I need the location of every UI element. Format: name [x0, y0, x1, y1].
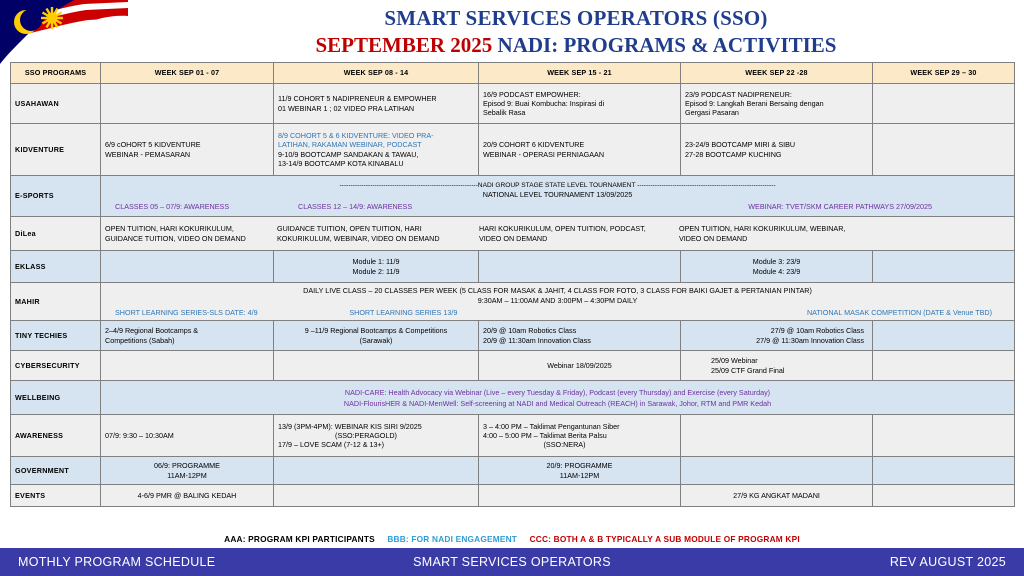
cell-tinytechies-week3: 20/9 @ 10am Robotics Class 20/9 @ 11:30a…: [479, 321, 681, 351]
title-line-2: SEPTEMBER 2025 NADI: PROGRAMS & ACTIVITI…: [128, 31, 1024, 59]
cell-line: Module 2: 11/9: [278, 267, 474, 276]
cell-line: 20/9 @ 11:30am Innovation Class: [483, 336, 676, 345]
cell-line: 27/9 @ 11:30am Innovation Class: [685, 336, 864, 345]
cell-line: 23-24/9 BOOTCAMP MIRI & SIBU: [685, 140, 868, 149]
cell-cybersecurity-week3: Webinar 18/09/2025: [479, 351, 681, 381]
footer-left-label: MOTHLY PROGRAM SCHEDULE: [18, 555, 215, 569]
dilea-col-2: GUIDANCE TUITION, OPEN TUITION, HARI KOK…: [277, 224, 479, 243]
row-label-usahawan: USAHAWAN: [11, 84, 101, 124]
row-label-awareness: AWARENESS: [11, 415, 101, 457]
cell-kidventure-week2: 8/9 COHORT 5 & 6 KIDVENTURE: VIDEO PRA- …: [274, 124, 479, 176]
col-header-programs: SSO PROGRAMS: [11, 63, 101, 84]
cell-events-week2: [274, 485, 479, 507]
cell-eklass-week1: [101, 251, 274, 283]
col-header-week2: WEEK SEP 08 - 14: [274, 63, 479, 84]
cell-line: 20/9 COHORT 6 KIDVENTURE: [483, 140, 676, 149]
cell-line: 20/9 @ 10am Robotics Class: [483, 326, 676, 335]
cell-usahawan-week3: 16/9 PODCAST EMPOWHER: Episod 9: Buai Ko…: [479, 84, 681, 124]
cell-line: OPEN TUITION, HARI KOKURIKULUM,: [105, 224, 271, 233]
wellbeing-line-2: NADI-FlourisHER & NADI-MenWell: Self-scr…: [105, 398, 1010, 409]
cell-line: Module 1: 11/9: [278, 257, 474, 266]
cell-line: Episod 9: Buai Kombucha: Inspirasi di: [483, 99, 676, 108]
row-label-dilea: DiLea: [11, 217, 101, 251]
cell-awareness-week5: [873, 415, 1015, 457]
cell-line: 13/9 (3PM-4PM): WEBINAR KIS SIRI 9/2025: [278, 422, 474, 431]
table-row-awareness: AWARENESS 07/9: 9:30 – 10:30AM 13/9 (3PM…: [11, 415, 1015, 457]
cell-line: 13-14/9 BOOTCAMP KOTA KINABALU: [278, 159, 474, 168]
cell-wellbeing-span: NADI-CARE: Health Advocacy via Webinar (…: [101, 381, 1015, 415]
cell-line: GUIDANCE TUITION, VIDEO ON DEMAND: [105, 234, 271, 243]
cell-line: 9 –11/9 Regional Bootcamps & Competition…: [278, 326, 474, 335]
cell-awareness-week1: 07/9: 9:30 – 10:30AM: [101, 415, 274, 457]
cell-esports-span: ----------------------------------------…: [101, 176, 1015, 217]
cell-awareness-week2: 13/9 (3PM-4PM): WEBINAR KIS SIRI 9/2025 …: [274, 415, 479, 457]
cell-line: LATIHAN, RAKAMAN WEBINAR, PODCAST: [278, 140, 474, 149]
cell-awareness-week3: 3 – 4:00 PM – Taklimat Pengantunan Siber…: [479, 415, 681, 457]
mahir-line-1: DAILY LIVE CLASS – 20 CLASSES PER WEEK (…: [105, 286, 1010, 296]
cell-line: Module 3: 23/9: [685, 257, 868, 266]
cell-events-week3: [479, 485, 681, 507]
cell-line: Module 4: 23/9: [685, 267, 868, 276]
cell-usahawan-week4: 23/9 PODCAST NADIPRENEUR: Episod 9: Lang…: [681, 84, 873, 124]
cell-line: 25/09 CTF Grand Final: [711, 366, 868, 375]
mahir-tag-3: NATIONAL MASAK COMPETITION (DATE & Venue…: [603, 308, 1010, 317]
cell-cybersecurity-week5: [873, 351, 1015, 381]
table-row-government: GOVERNMENT 06/9: PROGRAMME 11AM-12PM 20/…: [11, 457, 1015, 485]
cell-line: 11/9 COHORT 5 NADIPRENEUR & EMPOWHER: [278, 94, 474, 103]
row-label-government: GOVERNMENT: [11, 457, 101, 485]
esports-tag-1: CLASSES 05 – 07/9: AWARENESS: [105, 202, 286, 211]
cell-eklass-week4: Module 3: 23/9 Module 4: 23/9: [681, 251, 873, 283]
cell-line: 2–4/9 Regional Bootcamps &: [105, 326, 269, 335]
table-row-esports: E-SPORTS -------------------------------…: [11, 176, 1015, 217]
cell-cybersecurity-week4: 25/09 Webinar 25/09 CTF Grand Final: [681, 351, 873, 381]
cell-government-week1: 06/9: PROGRAMME 11AM-12PM: [101, 457, 274, 485]
table-header-row: SSO PROGRAMS WEEK SEP 01 - 07 WEEK SEP 0…: [11, 63, 1015, 84]
row-label-wellbeing: WELLBEING: [11, 381, 101, 415]
row-label-esports: E-SPORTS: [11, 176, 101, 217]
cell-line: 25/09 Webinar: [711, 356, 868, 365]
cell-awareness-week4: [681, 415, 873, 457]
cell-line: 8/9 COHORT 5 & 6 KIDVENTURE: VIDEO PRA-: [278, 131, 474, 140]
table-row-tiny-techies: TINY TECHIES 2–4/9 Regional Bootcamps & …: [11, 321, 1015, 351]
cell-line: 6/9 cOHORT 5 KIDVENTURE: [105, 140, 269, 149]
cell-cybersecurity-week1: [101, 351, 274, 381]
cell-kidventure-week4: 23-24/9 BOOTCAMP MIRI & SIBU 27-28 BOOTC…: [681, 124, 873, 176]
table-row-usahawan: USAHAWAN 11/9 COHORT 5 NADIPRENEUR & EMP…: [11, 84, 1015, 124]
cell-usahawan-week5: [873, 84, 1015, 124]
cell-tinytechies-week5: [873, 321, 1015, 351]
cell-line: 23/9 PODCAST NADIPRENEUR:: [685, 90, 868, 99]
cell-line: Episod 9: Langkah Berani Bersaing dengan: [685, 99, 868, 108]
cell-kidventure-week1: 6/9 cOHORT 5 KIDVENTURE WEBINAR - PEMASA…: [101, 124, 274, 176]
col-header-week1: WEEK SEP 01 - 07: [101, 63, 274, 84]
col-header-week4: WEEK SEP 22 -28: [681, 63, 873, 84]
cell-tinytechies-week2: 9 –11/9 Regional Bootcamps & Competition…: [274, 321, 479, 351]
footer-right-label: REV AUGUST 2025: [890, 555, 1006, 569]
table-row-eklass: EKLASS Module 1: 11/9 Module 2: 11/9 Mod…: [11, 251, 1015, 283]
cell-tinytechies-week4: 27/9 @ 10am Robotics Class 27/9 @ 11:30a…: [681, 321, 873, 351]
cell-line: VIDEO ON DEMAND: [679, 234, 893, 243]
legend: AAA: PROGRAM KPI PARTICIPANTS BBB: FOR N…: [0, 534, 1024, 544]
cell-mahir-span: DAILY LIVE CLASS – 20 CLASSES PER WEEK (…: [101, 283, 1015, 321]
cell-line: 11AM-12PM: [483, 471, 676, 480]
legend-aaa: AAA: PROGRAM KPI PARTICIPANTS: [224, 534, 375, 544]
row-label-eklass: EKLASS: [11, 251, 101, 283]
cell-government-week3: 20/9: PROGRAMME 11AM-12PM: [479, 457, 681, 485]
cell-line: WEBINAR - OPERASI PERNIAGAAN: [483, 150, 676, 159]
esports-tag-2: CLASSES 12 – 14/9: AWARENESS: [286, 202, 530, 211]
cell-events-week5: [873, 485, 1015, 507]
row-label-cybersecurity: CYBERSECURITY: [11, 351, 101, 381]
cell-usahawan-week1: [101, 84, 274, 124]
schedule-page: SMART SERVICES OPERATORS (SSO) SEPTEMBER…: [0, 0, 1024, 576]
cell-line: (SSO:NERA): [483, 440, 676, 449]
footer-bar: MOTHLY PROGRAM SCHEDULE SMART SERVICES O…: [0, 548, 1024, 576]
row-label-events: EVENTS: [11, 485, 101, 507]
row-label-mahir: MAHIR: [11, 283, 101, 321]
col-header-week5: WEEK SEP 29 – 30: [873, 63, 1015, 84]
col-header-week3: WEEK SEP 15 - 21: [479, 63, 681, 84]
mahir-line-2: 9:30AM – 11:00AM AND 3:00PM – 4:30PM DAI…: [105, 296, 1010, 306]
cell-line: Gergasi Pasaran: [685, 108, 868, 117]
legend-bbb: BBB: FOR NADI ENGAGEMENT: [387, 534, 517, 544]
cell-government-week4: [681, 457, 873, 485]
cell-dilea-span: OPEN TUITION, HARI KOKURIKULUM, GUIDANCE…: [101, 217, 1015, 251]
cell-line: 27/9 @ 10am Robotics Class: [685, 326, 864, 335]
cell-line: 11AM-12PM: [105, 471, 269, 480]
cell-line: 06/9: PROGRAMME: [105, 461, 269, 470]
table-row-kidventure: KIDVENTURE 6/9 cOHORT 5 KIDVENTURE WEBIN…: [11, 124, 1015, 176]
page-title: SMART SERVICES OPERATORS (SSO) SEPTEMBER…: [128, 2, 1024, 62]
cell-line: 3 – 4:00 PM – Taklimat Pengantunan Siber: [483, 422, 676, 431]
cell-line: WEBINAR - PEMASARAN: [105, 150, 269, 159]
cell-line: (SSO:PERAGOLD): [278, 431, 474, 440]
title-line-1: SMART SERVICES OPERATORS (SSO): [128, 2, 1024, 31]
cell-line: (Sarawak): [278, 336, 474, 345]
table-row-mahir: MAHIR DAILY LIVE CLASS – 20 CLASSES PER …: [11, 283, 1015, 321]
cell-line: GUIDANCE TUITION, OPEN TUITION, HARI: [277, 224, 473, 233]
cell-line: 4:00 – 5:00 PM – Taklimat Berita Palsu: [483, 431, 676, 440]
cell-line: Competitions (Sabah): [105, 336, 269, 345]
cell-line: 17/9 – LOVE SCAM (7-12 & 13+): [278, 440, 474, 449]
schedule-table: SSO PROGRAMS WEEK SEP 01 - 07 WEEK SEP 0…: [10, 62, 1015, 507]
row-label-kidventure: KIDVENTURE: [11, 124, 101, 176]
cell-kidventure-week3: 20/9 COHORT 6 KIDVENTURE WEBINAR - OPERA…: [479, 124, 681, 176]
row-label-tiny-techies: TINY TECHIES: [11, 321, 101, 351]
cell-line: 9-10/9 BOOTCAMP SANDAKAN & TAWAU,: [278, 150, 474, 159]
dilea-col-4: OPEN TUITION, HARI KOKURIKULUM, WEBINAR,…: [679, 224, 899, 243]
cell-eklass-week5: [873, 251, 1015, 283]
cell-line: 20/9: PROGRAMME: [483, 461, 676, 470]
cell-line: KOKURIKULUM, WEBINAR, VIDEO ON DEMAND: [277, 234, 473, 243]
esports-tournament-line-1: ----------------------------------------…: [105, 181, 1010, 191]
dilea-col-1: OPEN TUITION, HARI KOKURIKULUM, GUIDANCE…: [105, 224, 277, 243]
cell-line: 27-28 BOOTCAMP KUCHING: [685, 150, 868, 159]
wellbeing-line-1: NADI-CARE: Health Advocacy via Webinar (…: [105, 387, 1010, 398]
cell-line: OPEN TUITION, HARI KOKURIKULUM, WEBINAR,: [679, 224, 893, 233]
title-month: SEPTEMBER 2025: [316, 33, 493, 57]
cell-line: VIDEO ON DEMAND: [479, 234, 673, 243]
mahir-tag-2: SHORT LEARNING SERIES 13/9: [349, 308, 602, 317]
cell-government-week2: [274, 457, 479, 485]
title-subject: NADI: PROGRAMS & ACTIVITIES: [498, 33, 837, 57]
table-row-cybersecurity: CYBERSECURITY Webinar 18/09/2025 25/09 W…: [11, 351, 1015, 381]
cell-usahawan-week2: 11/9 COHORT 5 NADIPRENEUR & EMPOWHER 01 …: [274, 84, 479, 124]
cell-cybersecurity-week2: [274, 351, 479, 381]
cell-line: Sebalik Rasa: [483, 108, 676, 117]
cell-eklass-week2: Module 1: 11/9 Module 2: 11/9: [274, 251, 479, 283]
cell-tinytechies-week1: 2–4/9 Regional Bootcamps & Competitions …: [101, 321, 274, 351]
table-row-dilea: DiLea OPEN TUITION, HARI KOKURIKULUM, GU…: [11, 217, 1015, 251]
legend-ccc: CCC: BOTH A & B TYPICALLY A SUB MODULE O…: [530, 534, 800, 544]
esports-tournament-line-2: NATIONAL LEVEL TOURNAMENT 13/09/2025: [105, 190, 1010, 200]
cell-kidventure-week5: [873, 124, 1015, 176]
cell-events-week1: 4-6/9 PMR @ BALING KEDAH: [101, 485, 274, 507]
cell-government-week5: [873, 457, 1015, 485]
mahir-tag-1: SHORT LEARNING SERIES-SLS DATE: 4/9: [105, 308, 349, 317]
cell-line: 01 WEBINAR 1 ; 02 VIDEO PRA LATIHAN: [278, 104, 474, 113]
malaysia-flag-icon: [0, 0, 128, 66]
cell-line: HARI KOKURIKULUM, OPEN TUITION, PODCAST,: [479, 224, 673, 233]
cell-line: 16/9 PODCAST EMPOWHER:: [483, 90, 676, 99]
dilea-col-3: HARI KOKURIKULUM, OPEN TUITION, PODCAST,…: [479, 224, 679, 243]
table-row-wellbeing: WELLBEING NADI-CARE: Health Advocacy via…: [11, 381, 1015, 415]
table-row-events: EVENTS 4-6/9 PMR @ BALING KEDAH 27/9 KG …: [11, 485, 1015, 507]
cell-eklass-week3: [479, 251, 681, 283]
esports-tag-3: WEBINAR: TVET/SKM CAREER PATHWAYS 27/09/…: [530, 202, 1010, 211]
cell-events-week4: 27/9 KG ANGKAT MADANI: [681, 485, 873, 507]
